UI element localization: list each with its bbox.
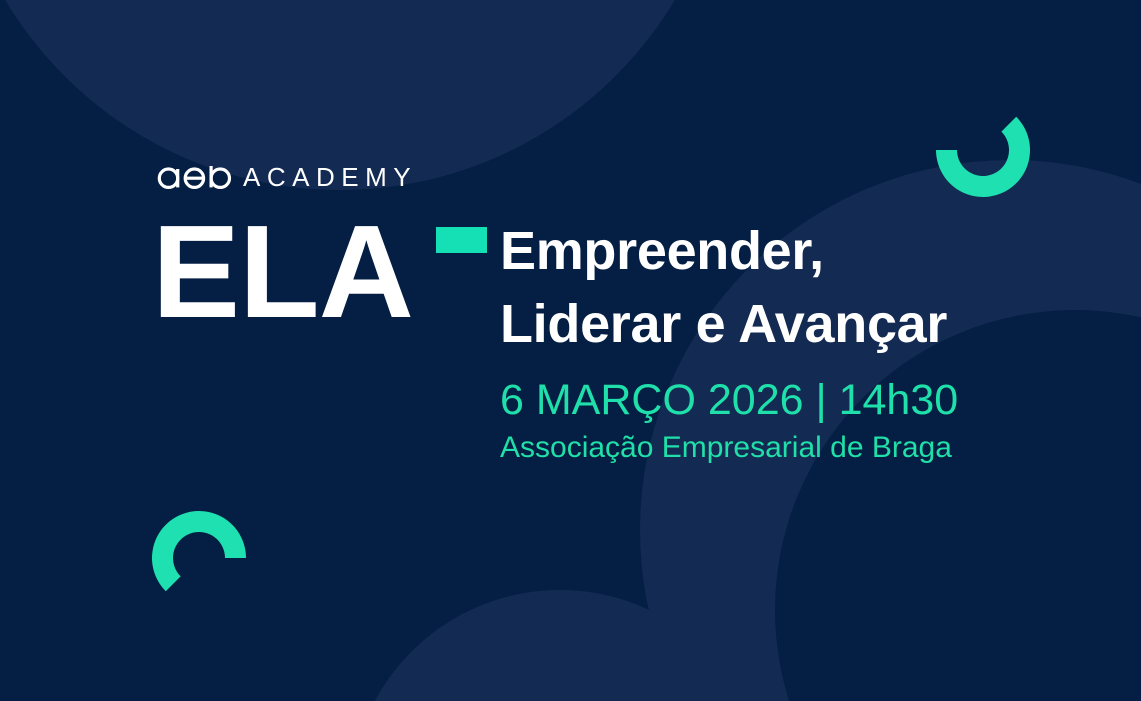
- headline-line-1: Empreender,: [500, 215, 1060, 288]
- event-poster: ACADEMY ELA Empreender, Liderar e Avança…: [0, 0, 1141, 701]
- aeb-logo-icon: [157, 164, 232, 190]
- title-acronym: ELA: [152, 206, 413, 338]
- event-date-time: 6 MARÇO 2026 | 14h30: [500, 379, 958, 422]
- headline-block: Empreender, Liderar e Avançar: [500, 215, 1060, 362]
- title-accent-dash: [436, 227, 487, 253]
- event-venue: Associação Empresarial de Braga: [500, 433, 952, 463]
- brand-lockup: ACADEMY: [157, 160, 417, 194]
- title-acronym-block: ELA: [152, 206, 413, 338]
- poster-content: ACADEMY ELA Empreender, Liderar e Avança…: [0, 0, 1141, 701]
- headline-line-2: Liderar e Avançar: [500, 288, 1060, 361]
- brand-wordmark: ACADEMY: [243, 164, 417, 190]
